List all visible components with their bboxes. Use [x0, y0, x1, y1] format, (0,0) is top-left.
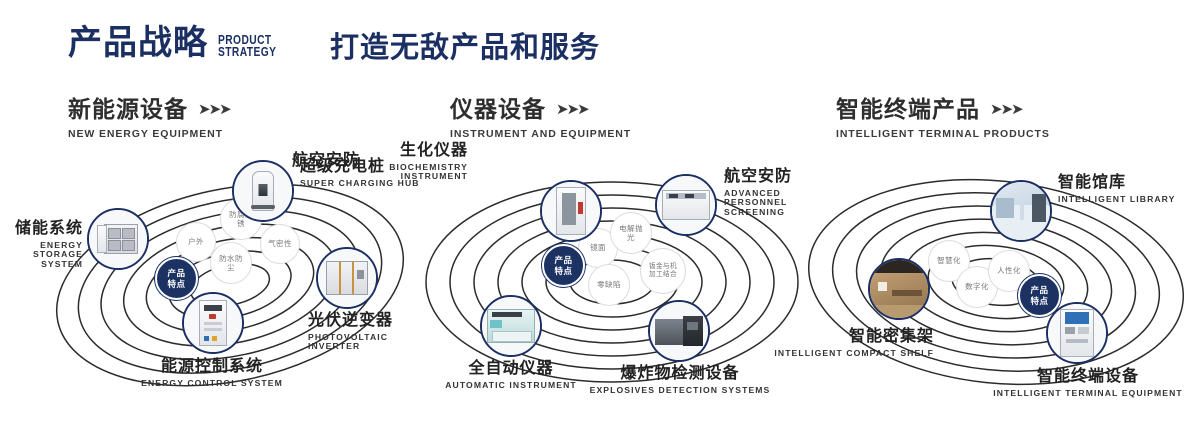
diagram-instrument: 镜面 电解抛光 零缺陷 钣金与机加工结合 产品 特点: [412, 160, 812, 410]
feature-bubble-label: 智慧化: [937, 256, 961, 265]
section-title-cn-text: 新能源设备: [68, 98, 188, 121]
node-biochemistry-instrument[interactable]: [540, 180, 602, 242]
section-title-cn: 智能终端产品 ➤➤➤: [836, 98, 1050, 121]
brand-en-line2: STRATEGY: [218, 46, 276, 58]
label-biochemistry-instrument: 生化仪器 BIOCHEMISTRY INSTRUMENT: [348, 142, 468, 182]
node-explosives-detection[interactable]: [648, 300, 710, 362]
label-energy-control-system: 能源控制系统 ENERGY CONTROL SYSTEM: [82, 358, 342, 388]
diagram-terminal: 智慧化 数字化 人性化 产品 特点 智能馆库 INTELLIGENT LIBR: [800, 160, 1200, 410]
node-label-cn: 智能馆库: [1058, 174, 1198, 192]
node-label-cn: 能源控制系统: [82, 358, 342, 376]
node-label-en: INTELLIGENT COMPACT SHELF: [738, 349, 934, 358]
node-energy-control-system[interactable]: [182, 292, 244, 354]
section-title-new-energy: 新能源设备 ➤➤➤ NEW ENERGY EQUIPMENT: [68, 98, 230, 140]
node-label-cn: 航空安防: [240, 152, 360, 170]
node-label-en: AUTOMATIC INSTRUMENT: [392, 381, 630, 390]
feature-bubble: 钣金与机加工结合: [640, 248, 686, 294]
feature-bubble-label: 钣金与机加工结合: [646, 263, 680, 279]
label-energy-storage: 储能系统 ENERGY STORAGE SYSTEM: [5, 220, 83, 269]
core-badge: 产品 特点: [542, 244, 585, 287]
diagram-new-energy: 户外 防腐防锈 防水防尘 气密性 产品 特点: [30, 160, 430, 410]
node-label-cn: 生化仪器: [348, 142, 468, 160]
feature-bubble-label: 人性化: [997, 266, 1021, 275]
section-title-en: INSTRUMENT AND EQUIPMENT: [450, 128, 631, 140]
chevron-right-icon: ➤➤➤: [990, 102, 1022, 117]
section-title-cn-text: 仪器设备: [450, 98, 546, 121]
section-title-instrument: 仪器设备 ➤➤➤ INSTRUMENT AND EQUIPMENT: [450, 98, 631, 140]
feature-bubble-label: 电解抛光: [618, 224, 644, 243]
section-title-cn: 新能源设备 ➤➤➤: [68, 98, 230, 121]
feature-bubble-label: 防水防尘: [218, 254, 244, 273]
label-intelligent-library: 智能馆库 INTELLIGENT LIBRARY: [1058, 174, 1198, 204]
node-photovoltaic-inverter[interactable]: [316, 247, 378, 309]
core-badge-line1: 产品: [554, 255, 572, 265]
node-label-cn: 智能密集架: [738, 328, 934, 346]
node-intelligent-terminal-equipment[interactable]: [1046, 302, 1108, 364]
node-label-en: BIOCHEMISTRY INSTRUMENT: [348, 163, 468, 182]
label-intelligent-compact-shelf: 智能密集架 INTELLIGENT COMPACT SHELF: [738, 328, 934, 358]
node-label-en: ENERGY CONTROL SYSTEM: [82, 379, 342, 388]
feature-bubble-label: 零缺陷: [595, 280, 623, 289]
node-energy-storage[interactable]: [87, 208, 149, 270]
node-label-en: INTELLIGENT TERMINAL EQUIPMENT: [968, 389, 1200, 398]
feature-bubble: 气密性: [260, 224, 300, 264]
node-intelligent-compact-shelf[interactable]: [868, 258, 930, 320]
feature-bubble: 零缺陷: [588, 264, 630, 306]
section-title-en: INTELLIGENT TERMINAL PRODUCTS: [836, 128, 1050, 140]
poster-canvas: 产品战略 PRODUCT STRATEGY 打造无敌产品和服务 新能源设备 ➤➤…: [0, 0, 1200, 422]
feature-bubble: 电解抛光: [610, 212, 652, 254]
node-label-en: ENERGY STORAGE SYSTEM: [5, 241, 83, 269]
core-badge-line2: 特点: [554, 266, 572, 276]
feature-bubble-label: 镜面: [590, 243, 606, 252]
brand-title-en: PRODUCT STRATEGY: [218, 34, 276, 58]
section-title-en: NEW ENERGY EQUIPMENT: [68, 128, 230, 140]
core-badge-line1: 产品: [167, 268, 185, 278]
feature-bubble-label: 户外: [188, 237, 204, 246]
node-label-cn: 储能系统: [5, 220, 83, 238]
node-label-en: INTELLIGENT LIBRARY: [1058, 195, 1198, 204]
label-automatic-instrument: 全自动仪器 AUTOMATIC INSTRUMENT: [392, 360, 630, 390]
feature-bubble: 防水防尘: [210, 242, 252, 284]
feature-bubble-label: 气密性: [267, 239, 293, 248]
node-automatic-instrument[interactable]: [480, 295, 542, 357]
section-title-terminal: 智能终端产品 ➤➤➤ INTELLIGENT TERMINAL PRODUCTS: [836, 98, 1050, 140]
node-label-cn: 全自动仪器: [392, 360, 630, 378]
node-label-cn: 智能终端设备: [968, 368, 1200, 386]
core-badge-line2: 特点: [167, 279, 185, 289]
chevron-right-icon: ➤➤➤: [556, 102, 588, 117]
core-badge-line1: 产品: [1030, 285, 1048, 295]
section-title-cn: 仪器设备 ➤➤➤: [450, 98, 631, 121]
feature-bubble-label: 数字化: [965, 282, 989, 291]
chevron-right-icon: ➤➤➤: [198, 102, 230, 117]
node-intelligent-library[interactable]: [990, 180, 1052, 242]
label-aviation-security-left: 航空安防: [240, 152, 360, 170]
section-title-cn-text: 智能终端产品: [836, 98, 980, 121]
node-advanced-personnel-screening[interactable]: [655, 174, 717, 236]
brand-header: 产品战略 PRODUCT STRATEGY: [68, 26, 289, 60]
headline: 打造无敌产品和服务: [330, 34, 600, 63]
core-badge-line2: 特点: [1030, 296, 1048, 306]
brand-title-cn: 产品战略: [68, 26, 208, 60]
label-intelligent-terminal-equipment: 智能终端设备 INTELLIGENT TERMINAL EQUIPMENT: [968, 368, 1200, 398]
